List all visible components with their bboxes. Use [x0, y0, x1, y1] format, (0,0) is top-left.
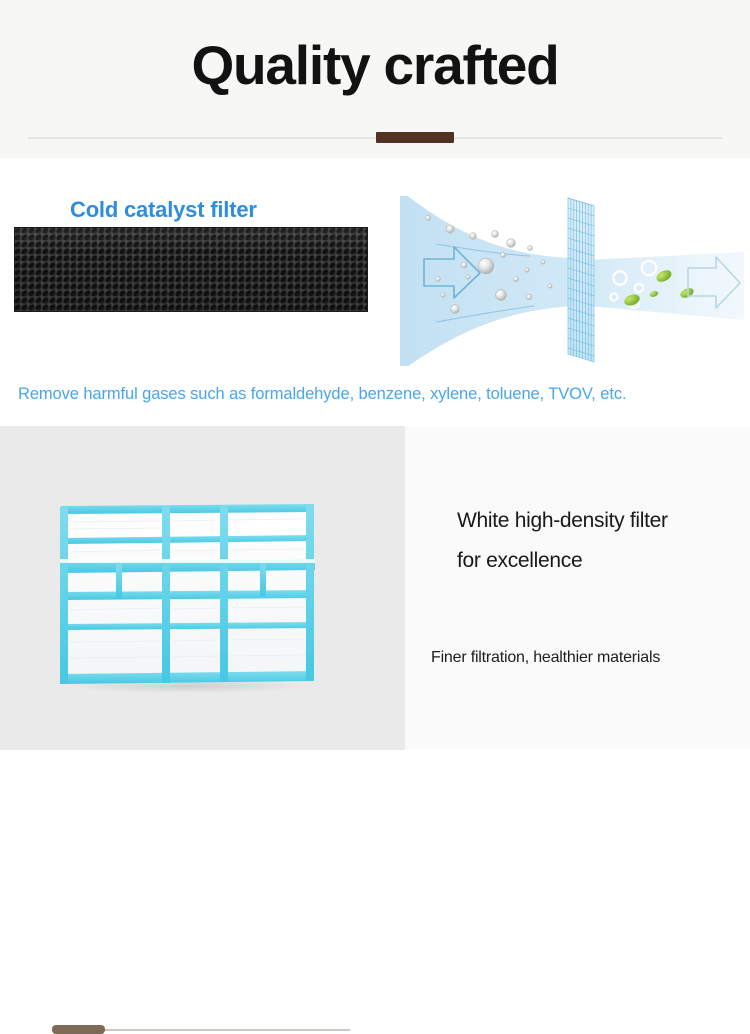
filter-mesh-grid — [568, 198, 594, 362]
high-density-filter-panel — [0, 426, 405, 750]
filter-sheen-overlay — [15, 228, 367, 311]
cold-catalyst-section: Cold catalyst filter — [0, 158, 750, 426]
cold-catalyst-caption: Remove harmful gases such as formaldehyd… — [18, 384, 626, 404]
cold-catalyst-filter-image — [15, 228, 367, 311]
heading-line-1: White high-density filter — [457, 501, 747, 541]
cold-catalyst-heading: Cold catalyst filter — [70, 197, 257, 223]
heading-line-2: for excellence — [457, 541, 747, 581]
header-divider — [28, 137, 722, 139]
product-feature-page: Quality crafted Cold catalyst filter — [0, 0, 750, 750]
header-divider-accent — [376, 132, 454, 143]
high-density-filter-text-panel: White high-density filter for excellence… — [405, 426, 750, 750]
airflow-filtration-diagram — [398, 196, 746, 366]
high-density-filter-heading: White high-density filter for excellence — [457, 501, 747, 581]
high-density-filter-section: White high-density filter for excellence… — [0, 426, 750, 750]
inlet-airstream — [400, 196, 574, 366]
high-density-filter-subtitle: Finer filtration, healthier materials — [431, 648, 660, 668]
page-title: Quality crafted — [0, 34, 750, 96]
header-banner: Quality crafted — [0, 0, 750, 158]
white-high-density-filter-image — [56, 502, 319, 695]
section-two-divider-accent — [52, 1025, 105, 1034]
